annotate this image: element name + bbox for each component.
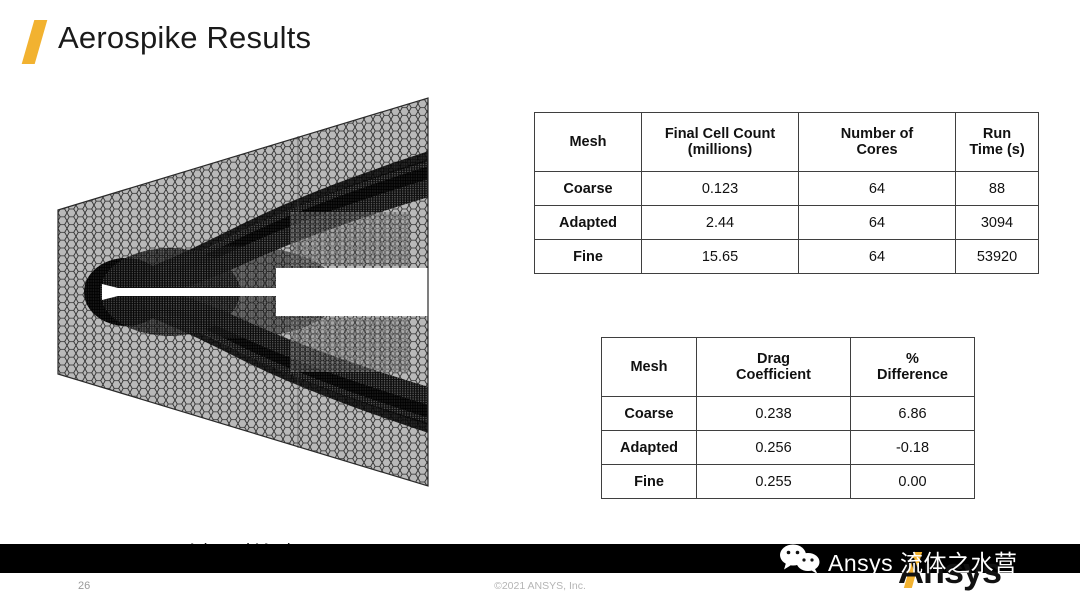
column-header-mesh: Mesh [602, 338, 697, 397]
table-row: Fine 0.255 0.00 [602, 465, 975, 499]
header-line: Difference [877, 367, 948, 383]
cell-mesh: Adapted [535, 206, 642, 240]
cell-drag: 0.256 [697, 431, 851, 465]
table-row: Coarse 0.123 64 88 [535, 172, 1039, 206]
table-row: Adapted 2.44 64 3094 [535, 206, 1039, 240]
wechat-icon [778, 544, 824, 574]
cell-cells: 0.123 [642, 172, 799, 206]
cell-cells: 15.65 [642, 240, 799, 274]
cell-time: 88 [956, 172, 1039, 206]
table-header-row: Mesh Final Cell Count (millions) Number … [535, 113, 1039, 172]
slide-title-row: Aerospike Results [0, 8, 600, 66]
cell-mesh: Coarse [535, 172, 642, 206]
cell-mesh: Fine [535, 240, 642, 274]
column-header-drag-coefficient: Drag Coefficient [697, 338, 851, 397]
header-line: Mesh [630, 359, 667, 375]
cell-cells: 2.44 [642, 206, 799, 240]
column-header-run-time: Run Time (s) [956, 113, 1039, 172]
column-header-percent-difference: % Difference [851, 338, 975, 397]
table-row: Fine 15.65 64 53920 [535, 240, 1039, 274]
column-header-cores: Number of Cores [799, 113, 956, 172]
cell-mesh: Coarse [602, 397, 697, 431]
header-line: (millions) [688, 142, 752, 158]
header-line: % [906, 351, 919, 367]
cell-time: 3094 [956, 206, 1039, 240]
page-title: Aerospike Results [58, 20, 311, 56]
cell-cores: 64 [799, 206, 956, 240]
cell-diff: 0.00 [851, 465, 975, 499]
mesh-diagram [40, 92, 440, 492]
table-header-row: Mesh Drag Coefficient % Difference [602, 338, 975, 397]
adapted-mesh-figure: Adapted Mesh [40, 92, 440, 492]
header-line: Number of [841, 126, 914, 142]
slide-canvas: Aerospike Results [0, 0, 1080, 608]
header-line: Time (s) [969, 142, 1024, 158]
drag-results-table: Mesh Drag Coefficient % Difference Coars… [601, 337, 975, 499]
header-line: Coefficient [736, 367, 811, 383]
wechat-account-name: Ansys 流体之水营 [828, 544, 1018, 578]
header-line: Mesh [569, 134, 606, 150]
cell-cores: 64 [799, 240, 956, 274]
cell-cores: 64 [799, 172, 956, 206]
title-accent-slash-icon [22, 20, 48, 64]
cell-diff: -0.18 [851, 431, 975, 465]
column-header-cell-count: Final Cell Count (millions) [642, 113, 799, 172]
mesh-performance-table: Mesh Final Cell Count (millions) Number … [534, 112, 1039, 274]
copyright-notice: ©2021 ANSYS, Inc. [0, 580, 1080, 592]
cell-drag: 0.238 [697, 397, 851, 431]
cell-drag: 0.255 [697, 465, 851, 499]
cell-time: 53920 [956, 240, 1039, 274]
cell-mesh: Adapted [602, 431, 697, 465]
cell-mesh: Fine [602, 465, 697, 499]
header-line: Drag [757, 351, 790, 367]
table-row: Adapted 0.256 -0.18 [602, 431, 975, 465]
header-line: Run [983, 126, 1011, 142]
table-row: Coarse 0.238 6.86 [602, 397, 975, 431]
cell-diff: 6.86 [851, 397, 975, 431]
header-line: Cores [856, 142, 897, 158]
header-line: Final Cell Count [665, 126, 775, 142]
column-header-mesh: Mesh [535, 113, 642, 172]
